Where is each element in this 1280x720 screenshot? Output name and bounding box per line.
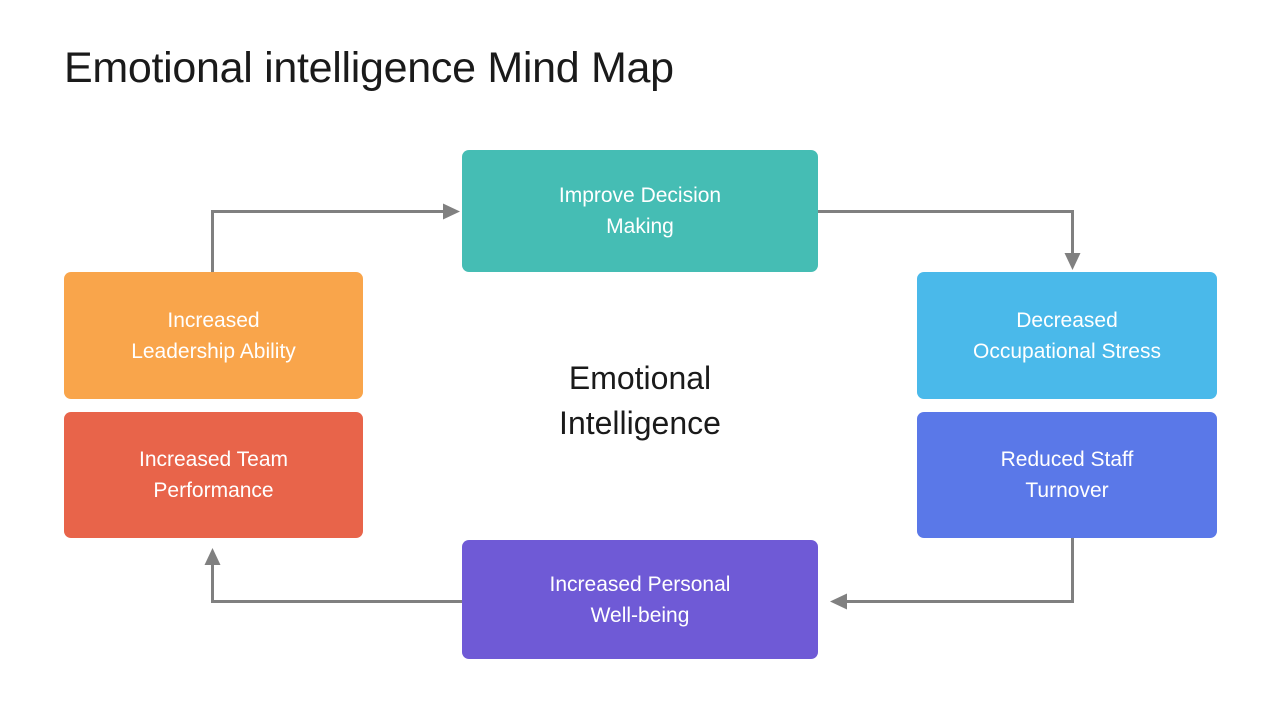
arrow-leadership-to-decision	[213, 204, 461, 273]
node-increased-team-performance[interactable]: Increased Team Performance	[64, 412, 363, 538]
node-label-line-2: Performance	[139, 475, 288, 506]
node-label-line-2: Making	[559, 211, 721, 242]
node-label-line-1: Increased	[131, 305, 296, 336]
arrow-decision-to-stress	[818, 212, 1081, 271]
center-label-line-1: Emotional	[470, 356, 810, 401]
node-increased-leadership-ability[interactable]: Increased Leadership Ability	[64, 272, 363, 399]
node-label-line-2: Leadership Ability	[131, 336, 296, 367]
center-label-line-2: Intelligence	[470, 401, 810, 446]
page-title: Emotional intelligence Mind Map	[64, 42, 674, 94]
arrow-wellbeing-to-performance	[205, 548, 463, 602]
node-label-line-1: Improve Decision	[559, 180, 721, 211]
node-decreased-occupational-stress[interactable]: Decreased Occupational Stress	[917, 272, 1217, 399]
center-label: Emotional Intelligence	[470, 356, 810, 446]
mind-map-slide: Emotional intelligence Mind Map Emotiona…	[0, 0, 1280, 720]
node-increased-personal-wellbeing[interactable]: Increased Personal Well-being	[462, 540, 818, 659]
node-label-line-1: Reduced Staff	[1001, 444, 1134, 475]
node-label-line-2: Well-being	[550, 600, 731, 631]
node-label-line-1: Increased Personal	[550, 569, 731, 600]
node-label-line-2: Occupational Stress	[973, 336, 1161, 367]
node-label-line-1: Increased Team	[139, 444, 288, 475]
node-label-line-1: Decreased	[973, 305, 1161, 336]
node-reduced-staff-turnover[interactable]: Reduced Staff Turnover	[917, 412, 1217, 538]
node-label-line-2: Turnover	[1001, 475, 1134, 506]
arrow-turnover-to-wellbeing	[830, 538, 1073, 610]
node-improve-decision-making[interactable]: Improve Decision Making	[462, 150, 818, 272]
